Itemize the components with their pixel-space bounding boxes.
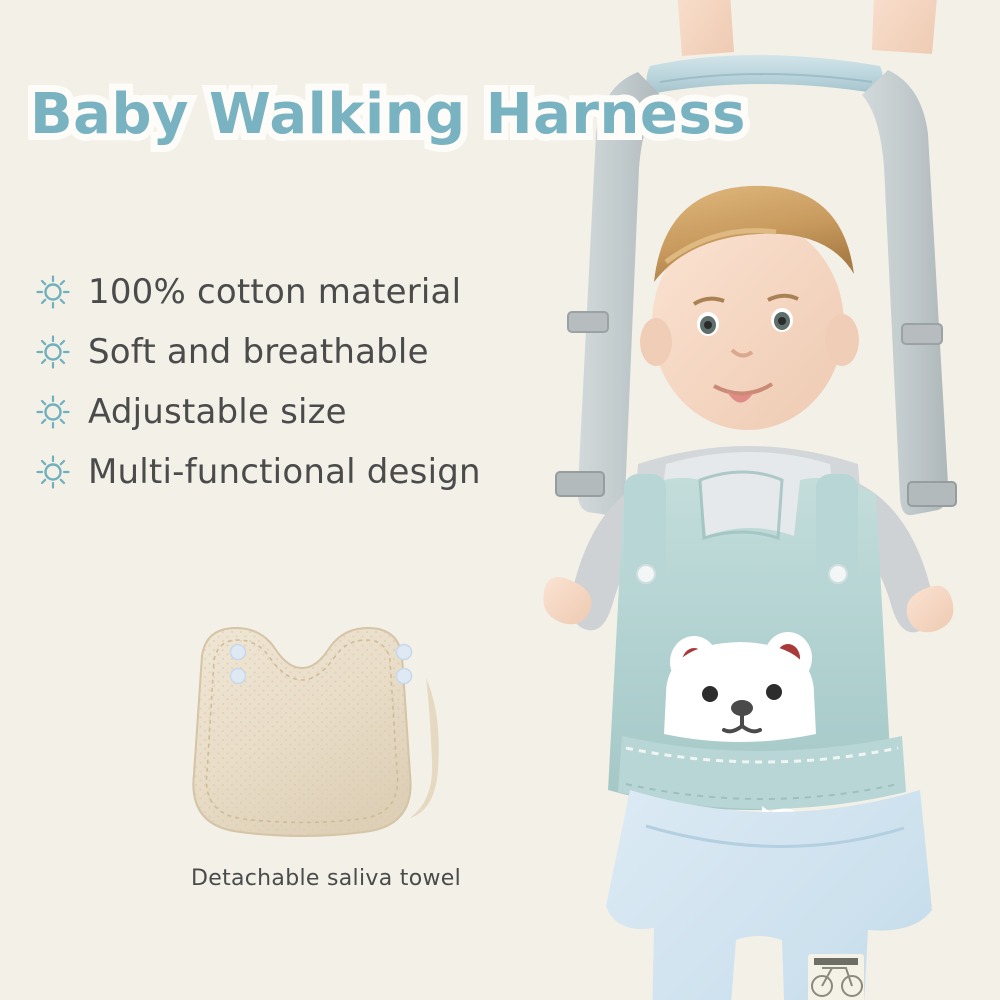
snap-button: [397, 645, 412, 660]
snap-button: [397, 669, 412, 684]
vest-snap-left: [637, 565, 655, 583]
page-title-wrap: Baby Walking Harness: [30, 82, 746, 147]
feature-label: Soft and breathable: [88, 332, 429, 372]
feature-label: Adjustable size: [88, 392, 347, 432]
toddler-head: [640, 186, 859, 430]
sun-icon: [36, 275, 70, 309]
feature-item-0: 100% cotton material: [36, 262, 596, 322]
product-infographic: Baby Walking Harness: [0, 0, 1000, 1000]
saliva-towel-block: Detachable saliva towel: [176, 612, 476, 891]
polar-bear-graphic: [664, 632, 816, 742]
saliva-towel-image: [176, 612, 466, 852]
sun-icon: [36, 335, 70, 369]
sun-icon: [36, 455, 70, 489]
page-title: Baby Walking Harness: [30, 82, 746, 147]
feature-label: Multi-functional design: [88, 452, 481, 492]
feature-item-2: Adjustable size: [36, 382, 596, 442]
strap-adjuster-right: [902, 324, 942, 344]
strap-buckle-right: [908, 482, 956, 506]
feature-item-3: Multi-functional design: [36, 442, 596, 502]
saliva-towel-caption: Detachable saliva towel: [176, 866, 476, 891]
snap-button: [231, 669, 246, 684]
feature-list: 100% cotton material: [36, 262, 596, 502]
feature-item-1: Soft and breathable: [36, 322, 596, 382]
feature-label: 100% cotton material: [88, 272, 461, 312]
sun-icon: [36, 395, 70, 429]
vest-snap-right: [829, 565, 847, 583]
adult-arms: [675, 0, 940, 56]
snap-button: [231, 645, 246, 660]
toddler-pants: [606, 790, 932, 1000]
